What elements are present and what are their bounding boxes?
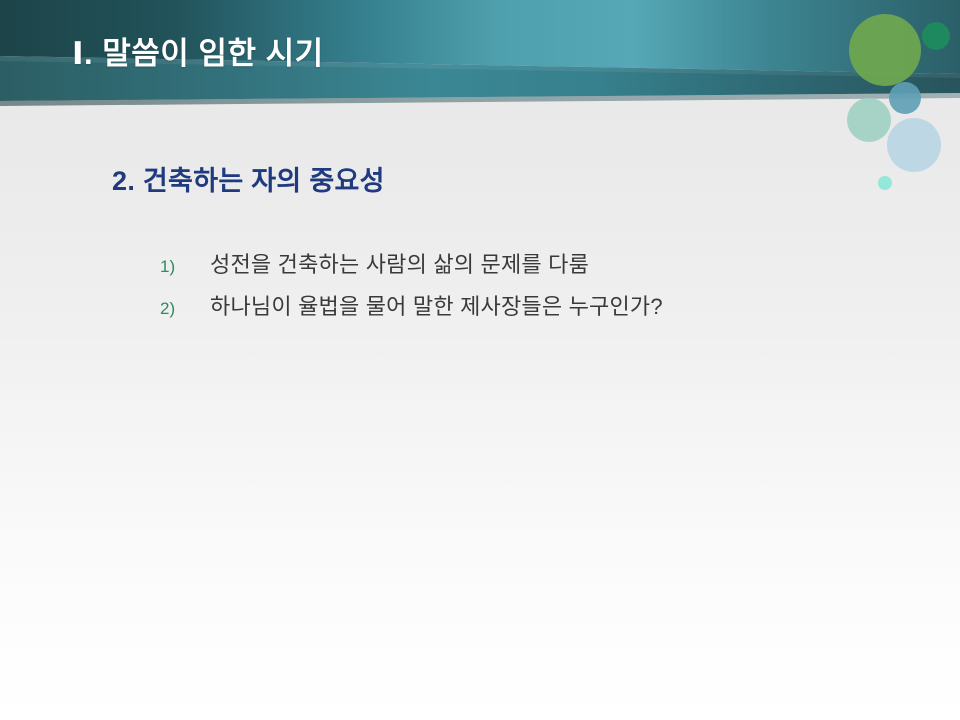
slide-title: Ⅰ. 말씀이 임한 시기 (72, 26, 852, 82)
numbered-list: 1) 성전을 건축하는 사람의 삶의 문제를 다룸 2) 하나님이 율법을 물어… (160, 244, 920, 328)
list-item: 1) 성전을 건축하는 사람의 삶의 문제를 다룸 (160, 244, 920, 286)
list-item-text: 하나님이 율법을 물어 말한 제사장들은 누구인가? (210, 286, 920, 328)
list-item-marker: 1) (160, 246, 210, 288)
list-item-text: 성전을 건축하는 사람의 삶의 문제를 다룸 (210, 244, 920, 286)
list-item-marker: 2) (160, 288, 210, 330)
list-item: 2) 하나님이 율법을 물어 말한 제사장들은 누구인가? (160, 286, 920, 328)
slide-body: 2. 건축하는 자의 중요성 1) 성전을 건축하는 사람의 삶의 문제를 다룸… (0, 112, 960, 720)
presentation-slide: Ⅰ. 말씀이 임한 시기 2. 건축하는 자의 중요성 1) 성전을 건축하는 … (0, 0, 960, 720)
section-heading: 2. 건축하는 자의 중요성 (112, 159, 385, 198)
